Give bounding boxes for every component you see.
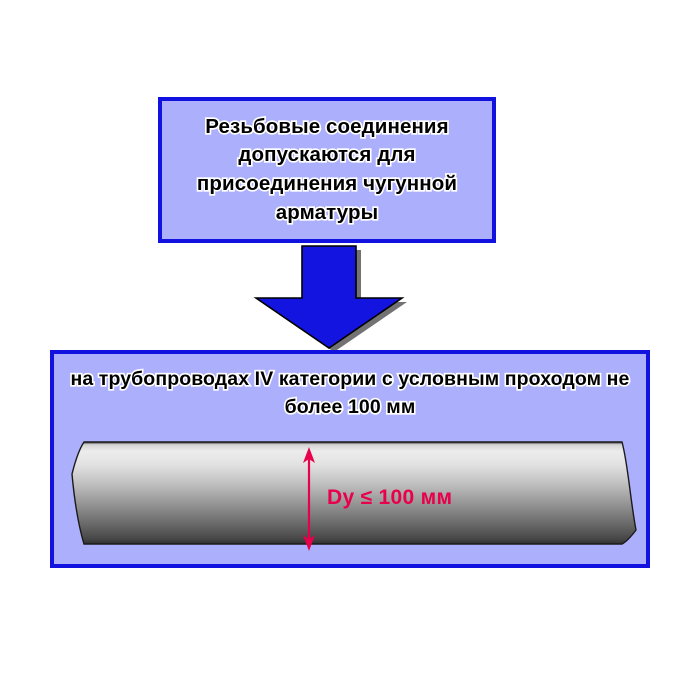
bottom-condition-text: на трубопроводах IV категории с условным… [54,366,646,421]
double-headed-vertical-arrow-icon [297,447,321,551]
top-statement-text: Резьбовые соединения допускаются для при… [162,113,492,228]
arrow-down-icon [252,240,408,354]
dimension-arrow [297,447,321,551]
flow-arrow-down [252,240,408,354]
slide-canvas: Резьбовые соединения допускаются для при… [0,0,700,700]
bottom-condition-box: на трубопроводах IV категории с условным… [50,350,650,568]
top-statement-box: Резьбовые соединения допускаются для при… [158,97,496,243]
dimension-label: Dy ≤ 100 мм [327,486,452,510]
